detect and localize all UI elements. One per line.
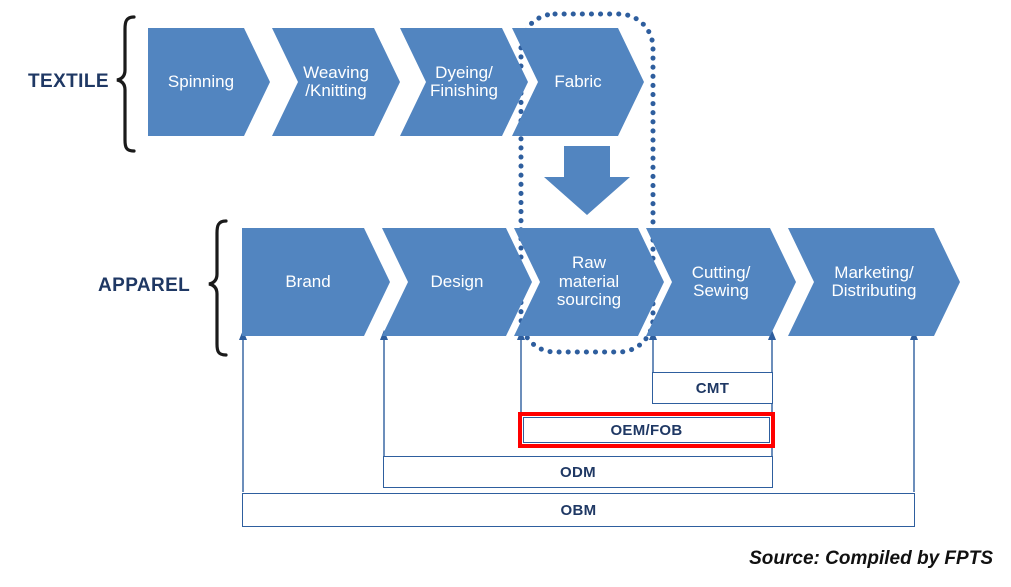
down-arrow-icon [544, 146, 630, 215]
model-box-oem-fob-inner: OEM/FOB [523, 417, 770, 443]
stage-label: Marketing/ Distributing [829, 264, 918, 301]
model-label: ODM [560, 464, 596, 481]
model-box-odm[interactable]: ODM [383, 456, 773, 488]
stage-spinning[interactable]: Spinning [148, 28, 270, 136]
stage-label: Weaving /Knitting [301, 64, 371, 101]
stage-label: Fabric [552, 73, 603, 91]
group-label-apparel: APPAREL [98, 275, 190, 297]
model-label: OEM/FOB [610, 422, 682, 439]
model-box-obm[interactable]: OBM [242, 493, 915, 527]
stage-brand[interactable]: Brand [242, 228, 390, 336]
stage-label: Raw material sourcing [555, 254, 623, 309]
textile-bracket [117, 17, 134, 151]
model-label: OBM [561, 502, 597, 519]
stage-label: Dyeing/ Finishing [428, 64, 500, 101]
group-label-textile: TEXTILE [28, 71, 109, 93]
stage-label: Brand [283, 273, 332, 291]
model-label: CMT [696, 380, 729, 397]
diagram-canvas: TEXTILE APPAREL Spinning Weaving /Knitti… [0, 0, 1011, 587]
stage-label: Spinning [166, 73, 236, 91]
stage-label: Cutting/ Sewing [690, 264, 753, 301]
stage-label: Design [429, 273, 486, 291]
model-box-oem-fob[interactable]: OEM/FOB [518, 412, 775, 448]
apparel-bracket [209, 221, 226, 355]
source-note: Source: Compiled by FPTS [749, 548, 993, 570]
model-box-cmt[interactable]: CMT [652, 372, 773, 404]
